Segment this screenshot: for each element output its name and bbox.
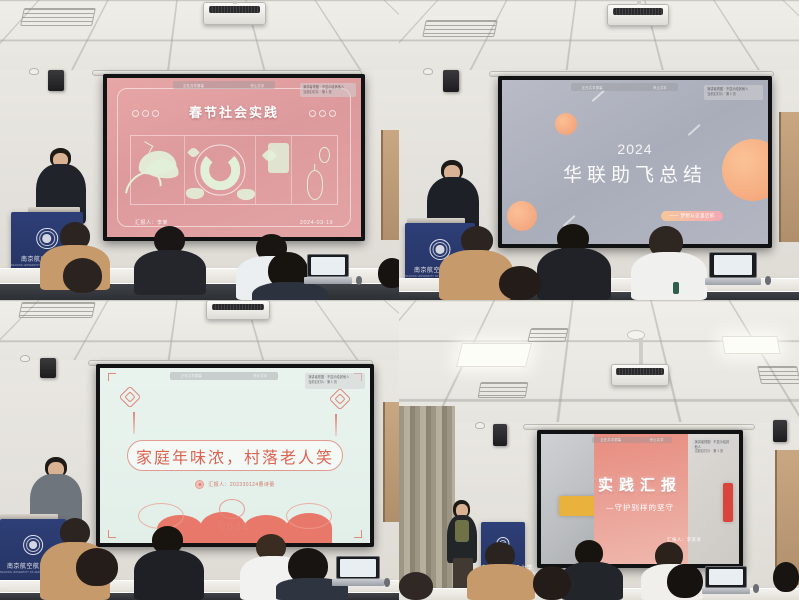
screen-share-bar: 正在共享屏幕 停止共享 [170,372,278,381]
decor-streak [687,124,700,136]
projector-mount [233,0,237,4]
cell-lantern [292,136,337,204]
share-bar-left-label: 正在共享屏幕 [181,373,202,378]
audience-body [134,550,204,600]
share-bar-right-label: 停止共享 [653,85,667,90]
laptop-screen [336,556,380,579]
screen-share-bar: 正在共享屏幕 停止共享 [592,437,671,444]
audience-head [667,564,703,598]
audience-head [76,548,118,586]
slide-subtitle: —守护别样的坚守 [541,502,739,513]
air-vent [18,302,95,318]
swirl-flourish [138,503,184,529]
mouse [765,276,771,285]
laptop-screen [705,566,747,588]
corner-mark [108,373,116,381]
chinese-knot-icon [329,387,352,410]
audience-body [252,282,328,300]
wall-speaker [40,358,56,378]
slide-pill-badge: —— 梦想从这里启航 [661,211,723,221]
projection-screen: 家庭年味浓，村落老人笑 汇报人：202330124曹诗蕾 2024 正在共享屏幕… [100,368,370,543]
projection-screen-frame: 家庭年味浓，村落老人笑 汇报人：202330124曹诗蕾 2024 正在共享屏幕… [96,364,374,547]
slide-illustration-grid [130,135,338,205]
swirl-flourish [219,499,245,519]
slide-footer-right: 2024-03-19 [300,220,333,226]
wall-speaker [48,70,64,91]
presenter-note-line2: 当前幻灯片 · 第 1 页 [308,380,361,385]
air-vent [757,366,799,384]
lantern-icon [307,170,323,200]
projector-vent [209,6,260,14]
audience-head [378,258,399,288]
window-curtain [399,406,455,600]
panel-top-right: 2024 华联助飞总结 —— 梦想从这里启航 正在共享屏幕 停止共享 演讲者视图… [399,0,799,300]
panel-bottom-right: 实践汇报 —守护别样的坚守 汇报人：李某某 正在共享屏幕 停止共享 演讲者视图 … [399,300,799,600]
laptop [709,252,757,285]
presenter-note-line2: 当前幻灯片 · 第 1 页 [707,92,760,97]
air-vent [20,8,96,26]
cup [673,282,679,294]
presenter-note: 演讲者视图 · 不显示给其他人 当前幻灯片 · 第 1 页 [305,373,364,389]
wall-speaker [773,420,787,442]
projector [206,300,270,320]
share-bar-right-label: 停止共享 [253,373,267,378]
audience-head [399,572,433,600]
audience-body [134,250,206,295]
air-vent [422,20,498,37]
laptop-keyboard [702,588,751,594]
presenter-note: 演讲者视图 · 不显示给其他人 当前幻灯片 · 第 1 页 [704,85,763,100]
slide-family-newyear: 家庭年味浓，村落老人笑 汇报人：202330124曹诗蕾 2024 [100,368,370,543]
projection-screen: 实践汇报 —守护别样的坚守 汇报人：李某某 正在共享屏幕 停止共享 演讲者视图 … [541,434,739,564]
audience-head [499,266,541,300]
share-bar-right-label: 停止共享 [251,83,265,88]
laptop-keyboard [705,278,761,285]
ceiling [399,0,799,78]
audience-body [631,252,707,300]
cloud-icon [237,189,255,200]
projection-screen-frame: 2024 华联助飞总结 —— 梦想从这里启航 正在共享屏幕 停止共享 演讲者视图… [498,76,772,248]
corner-mark [354,530,362,538]
laptop [307,254,349,284]
dome-camera-icon [423,68,433,75]
dome-camera-icon [20,355,30,362]
decor-streak [591,90,604,102]
ceiling-light [721,336,780,354]
slide-subtitle-row: 汇报人：202330124曹诗蕾 [100,480,370,489]
projector-vent [616,368,663,375]
air-vent [527,328,568,342]
wall-speaker [443,70,459,92]
wall-speaker [493,424,507,446]
audience-body [537,248,611,300]
laptop-keyboard [304,277,353,284]
share-bar-left-label: 正在共享屏幕 [183,83,204,88]
laptop-screen [307,254,349,277]
share-bar-right-label: 停止共享 [650,437,664,442]
slide-title: 实践汇报 [541,474,739,495]
presenter-note: 演讲者视图 · 不显示给其他人 当前幻灯片 · 第 1 页 [692,438,736,450]
knot-tassel [335,414,337,436]
audience-body [467,564,535,600]
ceiling-light [456,343,532,367]
slide-footer-left: 汇报人：李某 [135,219,168,226]
projection-screen-frame: 实践汇报 —守护别样的坚守 汇报人：李某某 正在共享屏幕 停止共享 演讲者视图 … [537,430,743,568]
corner-mark [108,530,116,538]
decor-circle [507,201,537,231]
screen-share-bar: 正在共享屏幕 停止共享 [571,83,677,91]
slide-hualian-summary: 2024 华联助飞总结 —— 梦想从这里启航 [502,80,768,244]
share-bar-left-label: 正在共享屏幕 [600,437,621,442]
square-block [268,143,290,173]
presenter-note-line2: 当前幻灯片 · 第 1 页 [303,90,353,95]
panel-bottom-left: 家庭年味浓，村落老人笑 汇报人：202330124曹诗蕾 2024 正在共享屏幕… [0,300,399,600]
projector-mount [639,338,643,364]
air-vent [478,382,529,398]
dome-camera-icon [29,68,39,75]
decor-circle [555,113,577,135]
audience-head [63,258,102,293]
slide-spring-festival: 春节社会实践 [107,78,361,237]
slide-title-box: 家庭年味浓，村落老人笑 [127,440,343,472]
university-seal [36,228,58,250]
door [779,112,799,242]
projector [611,364,669,386]
slide-subtitle: 汇报人：202330124曹诗蕾 [208,481,274,488]
projection-screen: 2024 华联助飞总结 —— 梦想从这里启航 正在共享屏幕 停止共享 演讲者视图… [502,80,768,244]
mouse [356,276,362,285]
university-seal [23,535,43,555]
person-avatar-icon [195,480,204,489]
door [381,130,399,240]
slide-title: 华联助飞总结 [502,160,768,187]
cell-ingot [131,136,185,204]
hill-base [157,534,333,543]
share-bar-left-label: 正在共享屏幕 [582,85,603,90]
cell-blossom [256,136,292,204]
presenter-top [455,520,469,542]
projector-vent [613,8,663,15]
cloud-icon [186,188,204,199]
mouse [753,584,759,593]
door [383,402,399,522]
slide-title: 家庭年味浓，村落老人笑 [136,444,334,468]
audience-head [533,566,571,600]
projector [203,2,266,25]
slide-title: 春节社会实践 [107,102,361,121]
laptop [336,556,380,586]
projector-mount [637,0,641,5]
dome-camera-icon [475,422,485,429]
slide-year: 2024 [502,141,768,157]
chinese-knot-icon [118,386,141,409]
photo-collage: 春节社会实践 [0,0,799,600]
dragon-icon [200,150,240,190]
mouse [384,578,390,587]
audience-head [773,562,799,592]
screen-share-bar: 正在共享屏幕 停止共享 [173,81,275,89]
laptop [705,566,747,594]
projector [607,4,669,26]
projection-screen: 春节社会实践 [107,78,361,237]
presenter-note: 演讲者视图 · 不显示给其他人 当前幻灯片 · 第 1 页 [300,83,356,97]
knot-tassel [133,412,135,434]
projector-vent [212,304,264,310]
panel-top-left: 春节社会实践 [0,0,399,300]
laptop-screen [709,252,757,278]
swirl-flourish [286,503,332,529]
laptop-keyboard [332,579,383,586]
firework-icon [319,147,330,163]
projection-screen-frame: 春节社会实践 [103,74,365,241]
presenter-note-line2: 当前幻灯片 · 第 1 页 [695,449,733,454]
cell-dragon [185,136,257,204]
slide-year-watermark: 2024 [220,522,250,533]
